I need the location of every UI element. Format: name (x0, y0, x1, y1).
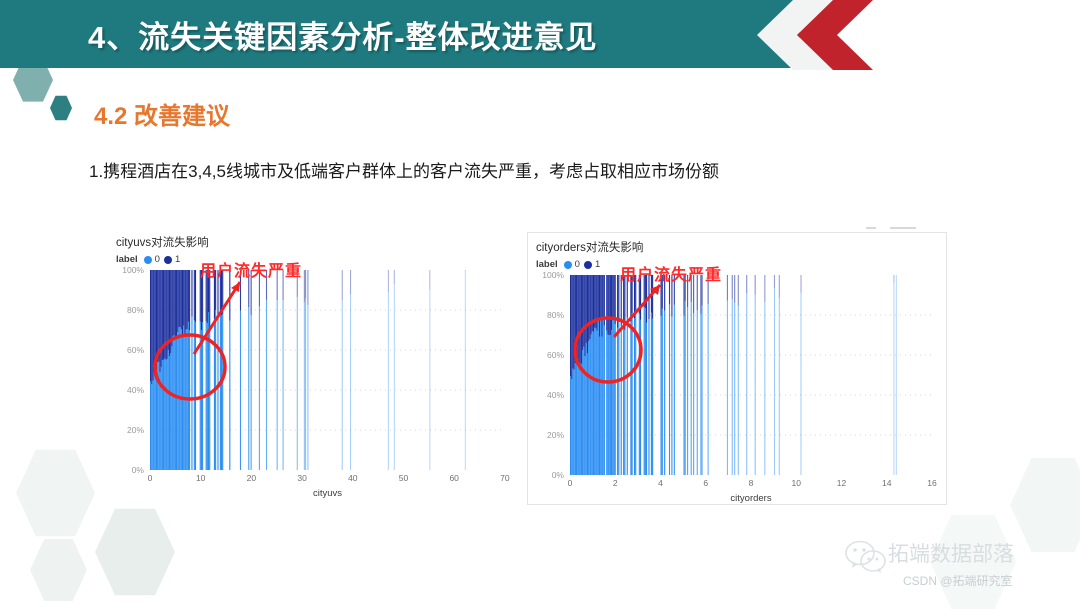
hex-decor-bottom-small (30, 537, 87, 603)
legend-title: label (116, 254, 138, 265)
plot-svg-cityorders (570, 275, 932, 475)
y-tick-label: 60% (127, 345, 144, 355)
x-tick-label: 70 (500, 473, 509, 483)
x-tick-label: 0 (568, 478, 573, 488)
x-tick-label: 2 (613, 478, 618, 488)
y-tick-label: 100% (122, 265, 144, 275)
legend-dot-0-icon (564, 261, 572, 269)
y-tick-label: 60% (547, 350, 564, 360)
y-axis-cityuvs: 100% 80% 60% 40% 20% 0% (112, 270, 144, 470)
legend-item-1[interactable]: 1 (584, 259, 600, 270)
y-tick-label: 40% (547, 390, 564, 400)
x-tick-label: 16 (927, 478, 936, 488)
section-heading: 4.2 改善建议 (94, 96, 230, 131)
hex-decor-bottom-large (16, 447, 95, 539)
x-tick-label: 10 (196, 473, 205, 483)
wechat-icon (845, 540, 887, 574)
chart-title-cityuvs: cityuvs对流失影响 (116, 234, 209, 250)
hex-decor-bottom-right-of-large (95, 506, 175, 598)
x-tick-label: 6 (703, 478, 708, 488)
y-tick-label: 80% (127, 305, 144, 315)
chart-cityorders: cityorders对流失影响 label 0 1 100% 80% 60% 4… (527, 232, 947, 505)
watermark-brand: 拓端数据部落 (888, 538, 1014, 568)
hex-decor-banner-small-teal (50, 95, 72, 121)
x-axis-title-cityuvs: cityuvs (150, 488, 505, 499)
x-tick-label: 40 (348, 473, 357, 483)
y-tick-label: 80% (547, 310, 564, 320)
plot-svg-cityuvs (150, 270, 505, 470)
x-axis-title-cityorders: cityorders (570, 493, 932, 504)
annotation-text-cityuvs: 用户流失严重 (200, 257, 302, 281)
legend-text-1: 1 (175, 254, 180, 265)
x-tick-label: 10 (792, 478, 801, 488)
y-tick-label: 0% (132, 465, 144, 475)
chart-cityuvs: cityuvs对流失影响 label 0 1 100% 80% 60% 40% … (112, 232, 512, 505)
x-axis-cityuvs: 0 10 20 30 40 50 60 70 (150, 473, 505, 487)
legend-text-1: 1 (595, 259, 600, 270)
x-tick-label: 14 (882, 478, 891, 488)
x-tick-label: 0 (148, 473, 153, 483)
annotation-text-cityorders: 用户流失严重 (620, 261, 722, 285)
x-tick-label: 50 (399, 473, 408, 483)
x-tick-label: 30 (297, 473, 306, 483)
chart-legend-cityorders: label 0 1 (536, 259, 600, 270)
legend-text-0: 0 (575, 259, 580, 270)
header-chevron-decoration (745, 0, 885, 70)
toolbar-mark-wide (890, 227, 916, 229)
body-paragraph: 1.携程酒店在3,4,5线城市及低端客户群体上的客户流失严重，考虑占取相应市场份… (89, 157, 719, 182)
legend-item-0[interactable]: 0 (564, 259, 580, 270)
toolbar-mark-small (866, 227, 876, 229)
x-tick-label: 8 (749, 478, 754, 488)
plot-area-cityorders (570, 275, 932, 475)
plot-area-cityuvs (150, 270, 505, 470)
legend-item-0[interactable]: 0 (144, 254, 160, 265)
legend-title: label (536, 259, 558, 270)
legend-dot-1-icon (584, 261, 592, 269)
watermark: 拓端数据部落 CSDN @拓端研究室 (845, 536, 1075, 598)
y-tick-label: 20% (127, 425, 144, 435)
y-tick-label: 20% (547, 430, 564, 440)
chart-legend-cityuvs: label 0 1 (116, 254, 180, 265)
y-tick-label: 40% (127, 385, 144, 395)
x-tick-label: 60 (449, 473, 458, 483)
x-tick-label: 20 (247, 473, 256, 483)
legend-dot-1-icon (164, 256, 172, 264)
legend-dot-0-icon (144, 256, 152, 264)
y-tick-label: 0% (552, 470, 564, 480)
watermark-credit: CSDN @拓端研究室 (903, 572, 1013, 589)
x-tick-label: 4 (658, 478, 663, 488)
x-tick-label: 12 (837, 478, 846, 488)
chart-title-cityorders: cityorders对流失影响 (536, 239, 643, 255)
x-axis-cityorders: 0 2 4 6 8 10 12 14 16 (570, 478, 932, 492)
y-tick-label: 100% (542, 270, 564, 280)
legend-text-0: 0 (155, 254, 160, 265)
page-title: 4、流失关键因素分析-整体改进意见 (88, 12, 598, 57)
legend-item-1[interactable]: 1 (164, 254, 180, 265)
y-axis-cityorders: 100% 80% 60% 40% 20% 0% (532, 275, 564, 475)
